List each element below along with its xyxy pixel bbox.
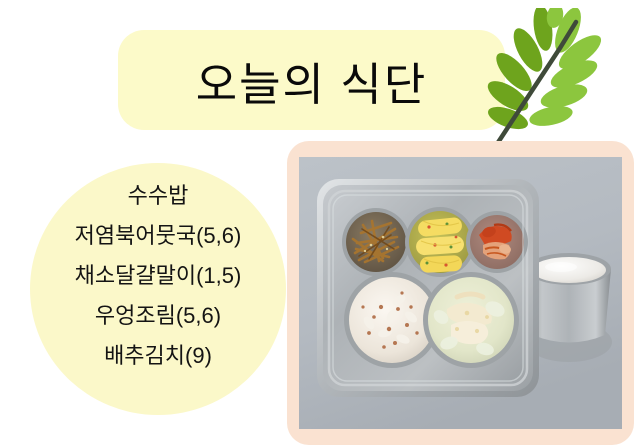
menu-item-kimchi: 배추김치(9) (104, 336, 212, 376)
fern-leaf-icon (472, 8, 622, 153)
menu-list: 수수밥 저염북어뭇국(5,6) 채소달걀말이(1,5) 우엉조림(5,6) 배추… (22, 176, 294, 402)
menu-item-soup: 저염북어뭇국(5,6) (75, 216, 242, 256)
menu-item-burdock: 우엉조림(5,6) (95, 296, 221, 336)
page-title: 오늘의 식단 (118, 30, 505, 130)
menu-item-egg-roll: 채소달걀말이(1,5) (75, 256, 242, 296)
menu-poster: 오늘의 식단 (0, 0, 634, 445)
menu-item-rice: 수수밥 (128, 176, 189, 216)
school-lunch-tray-photo (299, 157, 622, 429)
